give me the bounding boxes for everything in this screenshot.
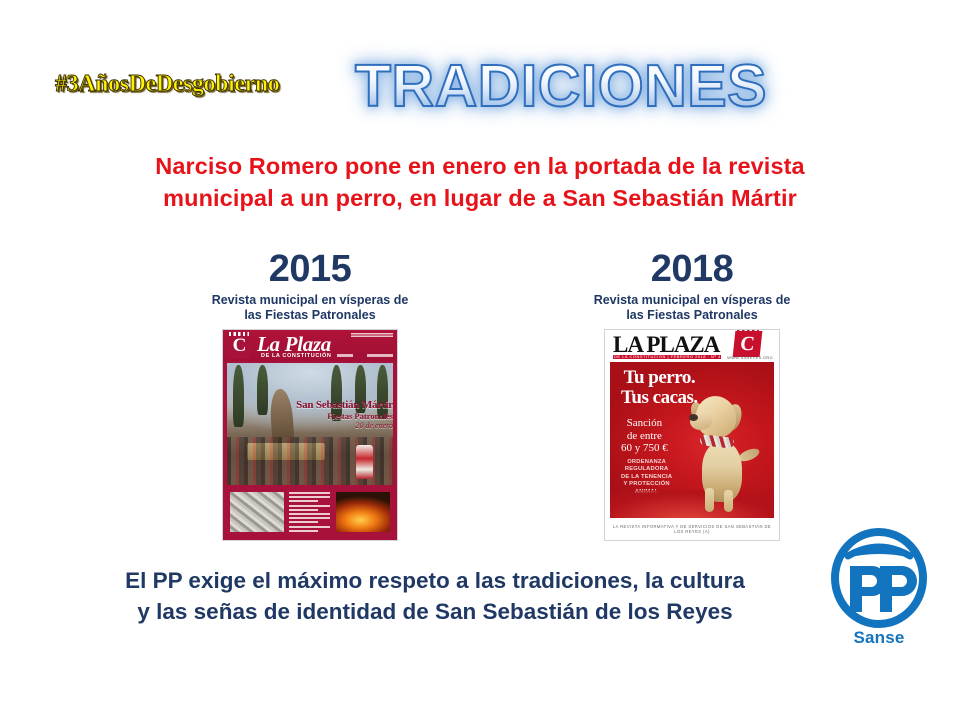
cover-caption-2018-line-1: Revista municipal en vísperas de — [577, 293, 807, 308]
page-title: TRADICIONES — [355, 52, 767, 120]
cover-2018-ordinance-text: ORDENANZA REGULADORA DE LA TENENCIA Y PR… — [621, 459, 672, 496]
cover-2015-photo-overlay-text: San Sebastián Mártir Fiestas Patronales … — [257, 399, 393, 431]
footer-claim: El PP exige el máximo respeto a las trad… — [40, 565, 830, 627]
cover-2018-sanction-line-1: Sanción — [621, 417, 668, 430]
headline: Narciso Romero pone en enero en la porta… — [0, 150, 960, 214]
cover-2015-masthead-subtitle: DE LA CONSTITUCIÓN — [261, 353, 331, 359]
cover-2018-sanction-line-2: de entre — [621, 430, 668, 443]
magazine-cover-2015: C La Plaza DE LA CONSTITUCIÓN San Sebast… — [223, 330, 397, 540]
cover-2018-sanction-line-3: 60 y 750 € — [621, 442, 668, 455]
cover-2015-overlay-line-2: Fiestas Patronales — [257, 411, 393, 421]
magazine-cover-2018: LA PLAZA C DE LA CONSTITUCIÓN | FEBRERO … — [605, 330, 779, 540]
cover-year-2018: 2018 — [577, 248, 807, 290]
footer-claim-line-1: El PP exige el máximo respeto a las trad… — [40, 565, 830, 596]
headline-line-1: Narciso Romero pone en enero en la porta… — [0, 150, 960, 182]
cover-2018-ordinance-line-4: Y PROTECCIÓN — [621, 481, 672, 488]
pp-sanse-label: Sanse — [820, 628, 938, 648]
cover-2018-ordinance-line-1: ORDENANZA — [621, 459, 672, 466]
cover-2015-overlay-line-3: 20 de enero — [257, 421, 393, 431]
cover-caption-2015: Revista municipal en vísperas de las Fie… — [195, 293, 425, 323]
cover-2015-thumb-aerial — [230, 492, 284, 532]
cover-2018-dog-photo — [688, 396, 764, 512]
cover-2015-meta-mid — [337, 354, 353, 357]
cover-2015-meta-top — [351, 333, 393, 338]
cover-year-2015: 2015 — [195, 248, 425, 290]
cover-block-2015: 2015 Revista municipal en vísperas de la… — [195, 248, 425, 540]
cover-2018-sanction-text: Sanción de entre 60 y 750 € — [621, 417, 668, 455]
pp-logo-icon — [820, 528, 938, 628]
cover-2015-thumb-bonfire — [336, 492, 390, 532]
footer-claim-line-2: y las señas de identidad de San Sebastiá… — [40, 596, 830, 627]
cover-2018-masthead-url: WWW.SSREYES.ORG — [727, 355, 773, 360]
hashtag-badge: #3AñosDeDesgobierno — [55, 71, 279, 98]
pp-sanse-logo: Sanse — [820, 528, 938, 656]
cover-2018-headline-line-1: Tu perro. — [621, 368, 698, 388]
cover-2018-logo-icon: C — [733, 331, 763, 357]
cover-2018-logo-dots-icon — [737, 330, 759, 334]
cover-2015-masthead: C La Plaza DE LA CONSTITUCIÓN — [223, 330, 397, 361]
cover-2018-masthead-subtitle: DE LA CONSTITUCIÓN | FEBRERO 2018 · Nº 4… — [614, 355, 726, 359]
cover-2018-masthead: LA PLAZA C DE LA CONSTITUCIÓN | FEBRERO … — [605, 330, 779, 361]
cover-2015-procession-photo: San Sebastián Mártir Fiestas Patronales … — [227, 363, 393, 485]
cover-2018-headline-line-2: Tus cacas. — [621, 388, 698, 408]
cover-caption-2015-line-1: Revista municipal en vísperas de — [195, 293, 425, 308]
cover-block-2018: 2018 Revista municipal en vísperas de la… — [577, 248, 807, 540]
cover-2018-dog-campaign-panel: Tu perro. Tus cacas. Sanción de entre 60… — [610, 362, 774, 518]
headline-line-2: municipal a un perro, en lugar de a San … — [0, 182, 960, 214]
cover-2018-ordinance-line-2: REGULADORA — [621, 466, 672, 473]
cover-caption-2018-line-2: las Fiestas Patronales — [577, 308, 807, 323]
cover-caption-2015-line-2: las Fiestas Patronales — [195, 308, 425, 323]
cover-2015-bottom-text-block — [289, 492, 337, 532]
cover-2018-footer-strip: LA REVISTA INFORMATIVA Y DE SERVICIOS DE… — [610, 524, 774, 534]
cover-2015-logo-icon: C — [228, 333, 251, 359]
cover-2015-logo-dots-icon — [229, 332, 249, 336]
cover-2018-ordinance-line-5: ANIMAL — [621, 489, 672, 496]
cover-2015-bottom-strip — [227, 488, 393, 536]
cover-2015-overlay-line-1: San Sebastián Mártir — [257, 399, 393, 411]
cover-2018-headline: Tu perro. Tus cacas. — [621, 368, 698, 408]
cover-2015-meta-right — [367, 354, 393, 357]
cover-caption-2018: Revista municipal en vísperas de las Fie… — [577, 293, 807, 323]
